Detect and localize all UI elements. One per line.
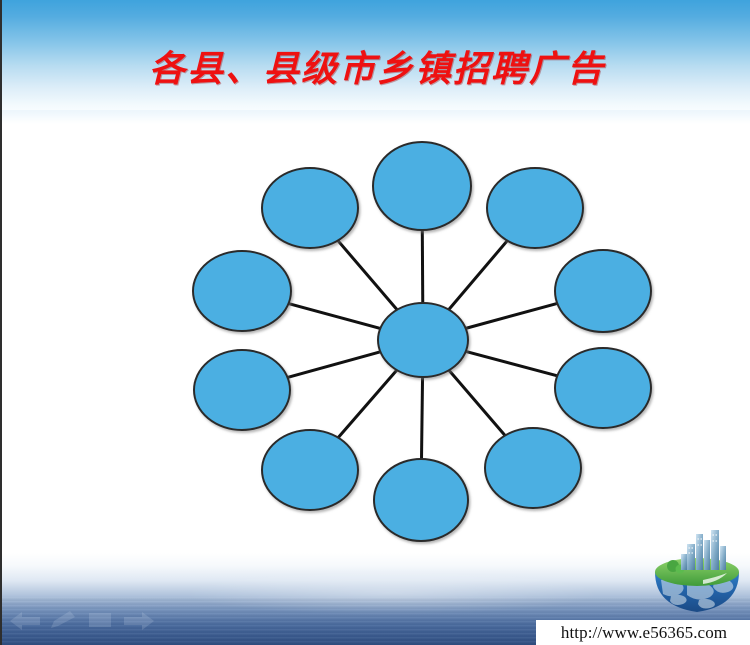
node-upper-left[interactable] [262,168,358,248]
spoke-line-3 [466,303,558,328]
node-bottom[interactable] [374,459,468,541]
spoke-line-6 [422,377,423,459]
node-left-lower-shape[interactable] [194,350,290,430]
node-lower-right-shape[interactable] [485,428,581,508]
watermark-arrow-left-icon [8,609,42,631]
node-upper-right-shape[interactable] [487,168,583,248]
node-top[interactable] [373,142,471,230]
node-top-shape[interactable] [373,142,471,230]
spoke-line-7 [338,370,397,438]
site-url-text: http://www.e56365.com [561,623,727,643]
spoke-line-9 [289,304,381,329]
watermark-arrow-right-icon [122,609,156,631]
center-node-group [378,303,468,377]
center-node-shape[interactable] [378,303,468,377]
node-right-upper-shape[interactable] [555,250,651,332]
site-url-box: http://www.e56365.com [536,620,750,645]
spoke-line-8 [288,352,381,378]
node-right-lower-shape[interactable] [555,348,651,428]
watermark-square-icon [86,609,114,631]
node-upper-right[interactable] [487,168,583,248]
node-right-lower[interactable] [555,348,651,428]
radial-diagram [2,0,750,645]
node-left-upper-shape[interactable] [193,251,291,331]
spoke-line-10 [338,241,397,310]
spoke-line-4 [466,351,557,375]
node-left-lower[interactable] [194,350,290,430]
presentation-slide: 各县、县级市乡镇招聘广告 [0,0,750,645]
spoke-line-5 [449,370,505,435]
diagram-canvas [2,0,750,645]
center-node[interactable] [378,303,468,377]
node-upper-left-shape[interactable] [262,168,358,248]
earth-city-globe-logo-icon [647,522,747,618]
node-right-upper[interactable] [555,250,651,332]
node-left-upper[interactable] [193,251,291,331]
node-lower-left-shape[interactable] [262,430,358,510]
watermark-pencil-icon [48,609,78,631]
node-bottom-shape[interactable] [374,459,468,541]
node-lower-left[interactable] [262,430,358,510]
spoke-line-2 [449,241,508,310]
node-lower-right[interactable] [485,428,581,508]
